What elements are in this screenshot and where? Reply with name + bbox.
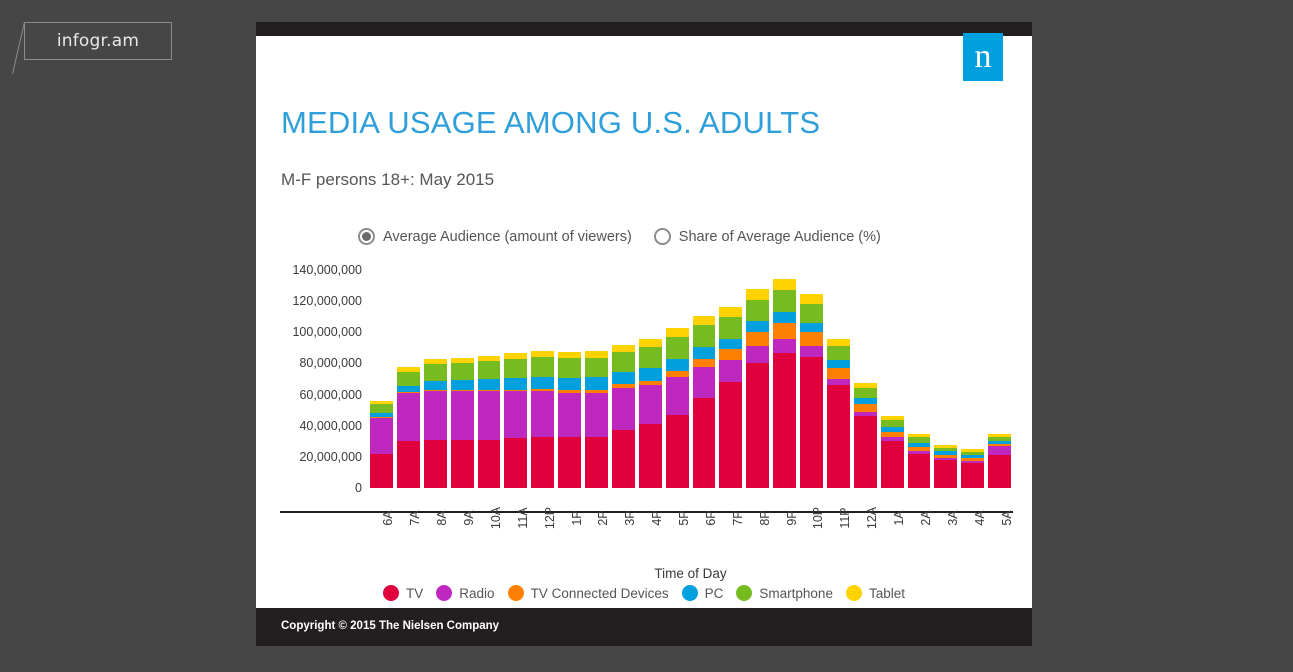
x-axis-tick: 2P (583, 516, 610, 562)
legend-item[interactable]: TV (383, 585, 423, 601)
stacked-bar[interactable] (881, 416, 904, 488)
nielsen-logo-letter: n (975, 38, 992, 75)
bar-segment[interactable] (854, 416, 877, 488)
bar-segment[interactable] (746, 346, 769, 363)
bar-segment[interactable] (612, 372, 635, 384)
y-axis: 140,000,000120,000,000100,000,00080,000,… (266, 270, 362, 488)
bar-segment[interactable] (693, 359, 716, 367)
x-axis-tick-label: 8A (435, 510, 449, 525)
bar-segment[interactable] (639, 368, 662, 380)
x-axis-tick: 7P (717, 516, 744, 562)
bar-segment[interactable] (693, 398, 716, 488)
bar-segment[interactable] (397, 372, 420, 386)
x-axis-tick-label: 2A (919, 510, 933, 525)
stacked-bar[interactable] (693, 316, 716, 488)
x-axis-tick-label: 6P (704, 510, 718, 525)
bar-column[interactable] (771, 270, 798, 488)
card-footer: Copyright © 2015 The Nielsen Company (256, 608, 1032, 646)
infogram-badge[interactable]: infogr.am (24, 22, 172, 60)
bar-column[interactable] (986, 270, 1013, 488)
bar-segment[interactable] (773, 353, 796, 488)
bar-segment[interactable] (451, 380, 474, 390)
bar-segment[interactable] (531, 391, 554, 436)
bar-segment[interactable] (693, 367, 716, 398)
legend-label: TV (406, 586, 423, 601)
stacked-bar[interactable] (558, 352, 581, 488)
bar-segment[interactable] (961, 463, 984, 488)
radio-option-1[interactable]: Share of Average Audience (%) (654, 228, 881, 245)
x-axis-tick-label: 10P (811, 507, 825, 529)
bar-segment[interactable] (666, 415, 689, 488)
radio-dot-icon[interactable] (358, 228, 375, 245)
metric-mode-toggle[interactable]: Average Audience (amount of viewers)Shar… (358, 228, 881, 245)
bar-column[interactable] (798, 270, 825, 488)
bar-segment[interactable] (370, 454, 393, 488)
stacked-bar[interactable] (370, 401, 393, 488)
stacked-bar[interactable] (746, 289, 769, 488)
bar-segment[interactable] (854, 404, 877, 412)
x-axis-tick-label: 1P (570, 510, 584, 525)
bar-segment[interactable] (558, 437, 581, 488)
x-axis-title: Time of Day (368, 566, 1013, 581)
bar-column[interactable] (744, 270, 771, 488)
bar-segment[interactable] (854, 388, 877, 397)
bar-segment[interactable] (746, 289, 769, 300)
x-axis-tick: 6P (691, 516, 718, 562)
bar-segment[interactable] (800, 294, 823, 304)
x-axis-tick: 6A (368, 516, 395, 562)
legend-label: Tablet (869, 586, 905, 601)
y-axis-tick-label: 140,000,000 (292, 263, 362, 277)
infogram-badge-label: infogr.am (57, 31, 139, 51)
legend-item[interactable]: Smartphone (736, 585, 833, 601)
stacked-bar[interactable] (478, 356, 501, 488)
x-axis-tick: 5P (664, 516, 691, 562)
stacked-bar[interactable] (934, 445, 957, 488)
bar-segment[interactable] (424, 440, 447, 488)
bar-segment[interactable] (666, 359, 689, 371)
bar-segment[interactable] (773, 290, 796, 312)
x-axis-tick-label: 12P (543, 507, 557, 529)
legend-item[interactable]: TV Connected Devices (508, 585, 669, 601)
x-axis-tick-label: 3P (623, 510, 637, 525)
bar-segment[interactable] (800, 332, 823, 346)
x-axis-tick-label: 8P (758, 510, 772, 525)
legend-item[interactable]: Tablet (846, 585, 905, 601)
x-axis-tick: 2A (906, 516, 933, 562)
bar-segment[interactable] (531, 357, 554, 376)
stacked-bar[interactable] (961, 449, 984, 488)
x-axis-tick: 1A (879, 516, 906, 562)
x-axis-tick-label: 7P (731, 510, 745, 525)
stacked-bar[interactable] (988, 434, 1011, 488)
bar-column[interactable] (906, 270, 933, 488)
screenshot-root: infogr.am n MEDIA USAGE AMONG U.S. ADULT… (0, 0, 1293, 672)
x-axis-tick: 1P (556, 516, 583, 562)
stacked-bar[interactable] (827, 339, 850, 488)
bar-column[interactable] (825, 270, 852, 488)
bar-segment[interactable] (773, 339, 796, 353)
infographic-card: n MEDIA USAGE AMONG U.S. ADULTS M-F pers… (256, 22, 1032, 646)
bar-column[interactable] (610, 270, 637, 488)
bar-column[interactable] (556, 270, 583, 488)
bar-segment[interactable] (504, 378, 527, 390)
legend-label: TV Connected Devices (531, 586, 669, 601)
x-axis-tick: 9A (449, 516, 476, 562)
x-axis-tick-label: 11P (838, 507, 852, 528)
bar-segment[interactable] (370, 404, 393, 413)
bar-segment[interactable] (988, 446, 1011, 455)
bar-segment[interactable] (451, 440, 474, 488)
bar-column[interactable] (395, 270, 422, 488)
bar-column[interactable] (502, 270, 529, 488)
bar-segment[interactable] (719, 317, 742, 339)
bar-column[interactable] (368, 270, 395, 488)
bar-segment[interactable] (424, 381, 447, 390)
bar-segment[interactable] (478, 391, 501, 439)
x-axis-tick: 11P (825, 516, 852, 562)
stacked-bar[interactable] (397, 367, 420, 488)
page-title: MEDIA USAGE AMONG U.S. ADULTS (281, 105, 820, 141)
x-axis-tick: 8P (744, 516, 771, 562)
stacked-bar[interactable] (451, 358, 474, 488)
radio-option-label: Average Audience (amount of viewers) (383, 229, 632, 245)
x-axis-tick: 3A (932, 516, 959, 562)
bar-segment[interactable] (504, 391, 527, 438)
page-subtitle: M-F persons 18+: May 2015 (281, 170, 494, 190)
stacked-bar[interactable] (639, 339, 662, 488)
legend-swatch-icon (736, 585, 752, 601)
bar-segment[interactable] (746, 332, 769, 346)
x-axis-tick: 8A (422, 516, 449, 562)
bar-segment[interactable] (666, 377, 689, 414)
stacked-bar[interactable] (773, 279, 796, 488)
x-axis-tick: 10P (798, 516, 825, 562)
bar-segment[interactable] (504, 359, 527, 378)
x-axis-tick-label: 5A (1000, 510, 1014, 525)
x-axis-tick-labels: 6A7A8A9A10A11A12P1P2P3P4P5P6P7P8P9P10P11… (368, 516, 1013, 562)
bar-segment[interactable] (800, 323, 823, 332)
bar-segment[interactable] (478, 440, 501, 488)
bar-segment[interactable] (827, 346, 850, 360)
stacked-bar[interactable] (531, 351, 554, 488)
stacked-bar[interactable] (666, 328, 689, 488)
chart-legend: TVRadioTV Connected DevicesPCSmartphoneT… (256, 585, 1032, 601)
legend-label: Radio (459, 586, 494, 601)
x-axis-tick-label: 9A (462, 510, 476, 525)
bar-segment[interactable] (719, 360, 742, 382)
x-axis-tick-label: 2P (596, 510, 610, 525)
bar-column[interactable] (637, 270, 664, 488)
bar-segment[interactable] (531, 437, 554, 488)
plot-area (368, 270, 1013, 488)
x-axis-tick-label: 11A (516, 507, 530, 528)
bar-segment[interactable] (746, 363, 769, 488)
y-axis-tick-label: 0 (355, 481, 362, 495)
bar-segment[interactable] (881, 420, 904, 427)
x-axis-tick-label: 4A (973, 510, 987, 525)
bar-segment[interactable] (585, 358, 608, 377)
bar-segment[interactable] (612, 388, 635, 430)
bar-segment[interactable] (451, 391, 474, 439)
bar-column[interactable] (664, 270, 691, 488)
y-axis-tick-label: 80,000,000 (299, 356, 362, 370)
x-axis-tick: 5A (986, 516, 1013, 562)
legend-label: PC (705, 586, 724, 601)
x-axis-tick-label: 12A (865, 507, 879, 529)
bar-segment[interactable] (666, 328, 689, 337)
bar-segment[interactable] (719, 349, 742, 360)
x-axis-tick: 4A (959, 516, 986, 562)
bar-segment[interactable] (800, 357, 823, 488)
bar-column[interactable] (959, 270, 986, 488)
bar-segment[interactable] (370, 418, 393, 454)
bar-segment[interactable] (746, 300, 769, 322)
radio-option-label: Share of Average Audience (%) (679, 229, 881, 245)
x-axis-tick: 4P (637, 516, 664, 562)
bar-segment[interactable] (558, 393, 581, 437)
y-axis-tick-label: 40,000,000 (299, 419, 362, 433)
x-axis-tick: 10A (476, 516, 503, 562)
x-axis-tick: 3P (610, 516, 637, 562)
nielsen-logo: n (963, 33, 1003, 81)
bar-segment[interactable] (558, 378, 581, 390)
bar-segment[interactable] (908, 454, 931, 488)
x-axis-tick: 12P (529, 516, 556, 562)
bar-series-container (368, 270, 1013, 488)
stacked-bar[interactable] (585, 351, 608, 488)
bar-column[interactable] (717, 270, 744, 488)
radio-option-0[interactable]: Average Audience (amount of viewers) (358, 228, 632, 245)
bar-segment[interactable] (988, 455, 1011, 488)
bar-segment[interactable] (612, 430, 635, 488)
bar-segment[interactable] (800, 346, 823, 357)
bar-segment[interactable] (693, 325, 716, 347)
bar-segment[interactable] (827, 385, 850, 488)
legend-swatch-icon (682, 585, 698, 601)
x-axis-tick-label: 3A (946, 510, 960, 525)
stacked-bar[interactable] (719, 307, 742, 488)
legend-item[interactable]: PC (682, 585, 724, 601)
x-axis-tick-label: 9P (785, 510, 799, 525)
bar-segment[interactable] (639, 339, 662, 347)
bar-segment[interactable] (693, 316, 716, 325)
bar-column[interactable] (449, 270, 476, 488)
stacked-bar[interactable] (854, 383, 877, 488)
bar-segment[interactable] (827, 368, 850, 379)
x-axis-tick-label: 4P (650, 510, 664, 525)
stacked-bar[interactable] (800, 294, 823, 488)
bar-segment[interactable] (451, 363, 474, 380)
bar-segment[interactable] (639, 347, 662, 368)
x-axis-tick-label: 6A (381, 510, 395, 525)
x-axis-tick-label: 7A (408, 510, 422, 525)
x-axis-tick: 9P (771, 516, 798, 562)
bar-segment[interactable] (881, 441, 904, 488)
bar-segment[interactable] (746, 321, 769, 332)
card-top-bar (256, 22, 1032, 36)
bar-segment[interactable] (666, 337, 689, 359)
copyright-text: Copyright © 2015 The Nielsen Company (281, 620, 499, 632)
legend-item[interactable]: Radio (436, 585, 494, 601)
x-axis-tick-label: 5P (677, 510, 691, 525)
bar-segment[interactable] (478, 379, 501, 390)
y-axis-tick-label: 60,000,000 (299, 388, 362, 402)
x-axis-tick: 7A (395, 516, 422, 562)
bar-segment[interactable] (827, 360, 850, 368)
bar-column[interactable] (879, 270, 906, 488)
legend-swatch-icon (436, 585, 452, 601)
bar-segment[interactable] (424, 391, 447, 439)
bar-segment[interactable] (397, 393, 420, 441)
bar-segment[interactable] (397, 441, 420, 488)
bar-segment[interactable] (478, 361, 501, 379)
x-axis-tick: 12A (852, 516, 879, 562)
bar-column[interactable] (691, 270, 718, 488)
bar-segment[interactable] (639, 385, 662, 424)
bar-segment[interactable] (693, 347, 716, 359)
bar-segment[interactable] (719, 382, 742, 488)
legend-swatch-icon (846, 585, 862, 601)
chart-plot-wrapper: 140,000,000120,000,000100,000,00080,000,… (256, 270, 1032, 580)
stacked-bar[interactable] (612, 345, 635, 488)
bar-segment[interactable] (827, 339, 850, 347)
bar-segment[interactable] (773, 323, 796, 339)
bar-segment[interactable] (504, 438, 527, 488)
bar-segment[interactable] (424, 364, 447, 381)
bar-column[interactable] (932, 270, 959, 488)
stacked-bar[interactable] (424, 359, 447, 489)
bar-column[interactable] (422, 270, 449, 488)
bar-segment[interactable] (773, 279, 796, 291)
stacked-bar[interactable] (908, 434, 931, 488)
bar-segment[interactable] (719, 339, 742, 350)
bar-column[interactable] (529, 270, 556, 488)
legend-swatch-icon (508, 585, 524, 601)
bar-segment[interactable] (934, 460, 957, 488)
bar-segment[interactable] (585, 377, 608, 389)
bar-segment[interactable] (531, 377, 554, 389)
y-axis-tick-label: 120,000,000 (292, 294, 362, 308)
bar-segment[interactable] (558, 358, 581, 377)
y-axis-tick-label: 100,000,000 (292, 325, 362, 339)
bar-segment[interactable] (773, 312, 796, 323)
bar-column[interactable] (852, 270, 879, 488)
bar-column[interactable] (476, 270, 503, 488)
bar-segment[interactable] (612, 352, 635, 372)
bar-segment[interactable] (612, 345, 635, 352)
legend-swatch-icon (383, 585, 399, 601)
bar-segment[interactable] (719, 307, 742, 317)
x-axis-tick-label: 1A (892, 510, 906, 525)
bar-segment[interactable] (639, 424, 662, 488)
bar-segment[interactable] (585, 437, 608, 488)
stacked-bar[interactable] (504, 353, 527, 488)
bar-column[interactable] (583, 270, 610, 488)
radio-dot-icon[interactable] (654, 228, 671, 245)
x-axis-tick-label: 10A (489, 507, 503, 529)
bar-segment[interactable] (585, 393, 608, 437)
legend-label: Smartphone (759, 586, 833, 601)
bar-segment[interactable] (800, 304, 823, 323)
y-axis-tick-label: 20,000,000 (299, 450, 362, 464)
x-axis-tick: 11A (502, 516, 529, 562)
